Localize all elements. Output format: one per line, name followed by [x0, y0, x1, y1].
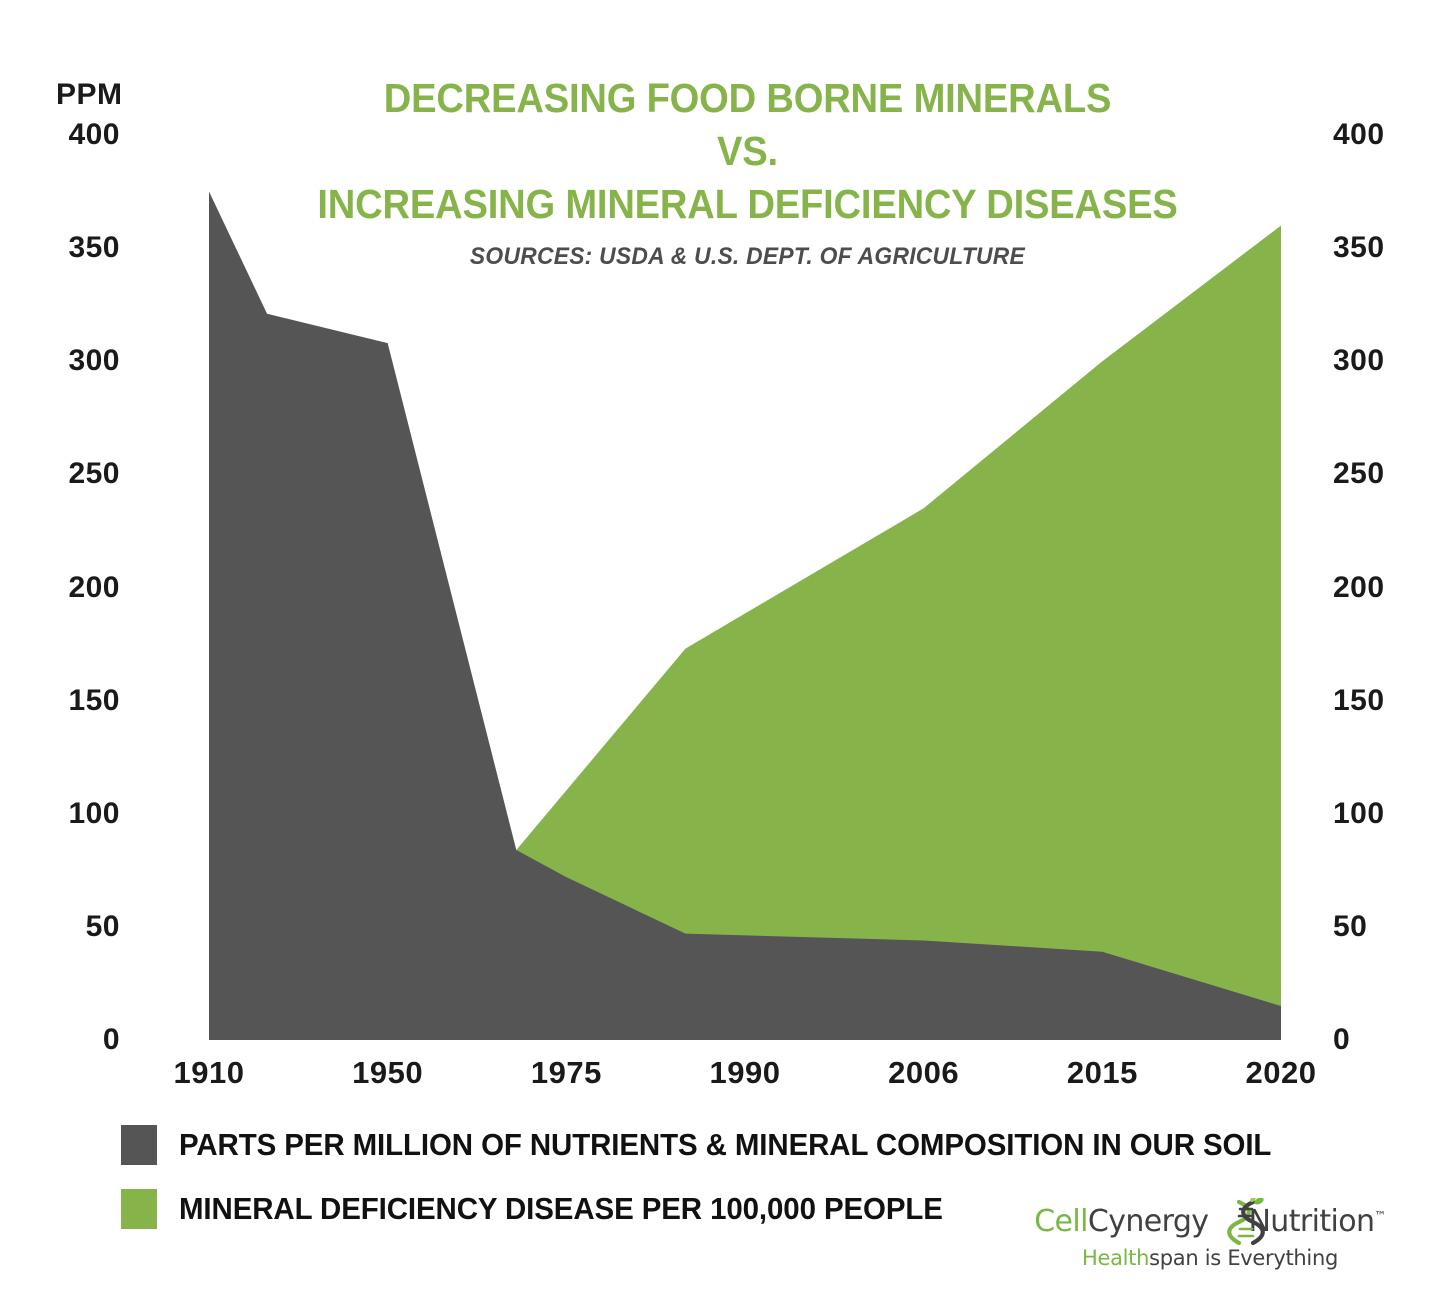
brand-logo-trademark-icon: ™ [1374, 1209, 1385, 1223]
y-axis-tick-right-100: 100 [1333, 799, 1385, 829]
y-axis-tick-left-250: 250 [68, 459, 120, 489]
brand-logo-cynergy: Cynergy [1088, 1204, 1209, 1239]
y-axis-tick-left-400: 400 [68, 120, 120, 150]
brand-logo[interactable]: CellCynergyNutrition™ Healthspan is Ever… [1030, 1198, 1390, 1298]
y-axis-tick-left-0: 0 [103, 1025, 120, 1055]
y-axis-tick-left-300: 300 [68, 346, 120, 376]
y-axis-tick-right-50: 50 [1333, 912, 1367, 942]
y-axis-tick-right-150: 150 [1333, 686, 1385, 716]
x-axis-tick-2015: 2015 [1067, 1055, 1138, 1091]
x-axis-tick-2006: 2006 [888, 1055, 959, 1091]
x-axis-tick-2020: 2020 [1246, 1055, 1317, 1091]
y-axis-tick-right-0: 0 [1333, 1025, 1350, 1055]
y-axis-tick-right-400: 400 [1333, 120, 1385, 150]
x-axis-tick-1910: 1910 [174, 1055, 245, 1091]
legend-label-soil: PARTS PER MILLION OF NUTRIENTS & MINERAL… [179, 1127, 1271, 1163]
legend-item-soil[interactable]: PARTS PER MILLION OF NUTRIENTS & MINERAL… [121, 1120, 1361, 1170]
legend-label-disease: MINERAL DEFICIENCY DISEASE PER 100,000 P… [179, 1191, 943, 1227]
y-axis-tick-left-100: 100 [68, 799, 120, 829]
brand-logo-cell: Cell [1034, 1204, 1088, 1239]
brand-logo-wordmark: CellCynergyNutrition™ [1030, 1204, 1390, 1239]
brand-logo-tagline-accent: Health [1082, 1246, 1149, 1270]
y-axis-tick-left-200: 200 [68, 573, 120, 603]
brand-logo-tagline-rest: span is Everything [1149, 1246, 1338, 1270]
y-axis-tick-left-150: 150 [68, 686, 120, 716]
y-axis-tick-right-250: 250 [1333, 459, 1385, 489]
y-axis-tick-right-200: 200 [1333, 573, 1385, 603]
y-axis-tick-right-300: 300 [1333, 346, 1385, 376]
y-axis-tick-left-50: 50 [86, 912, 120, 942]
x-axis-tick-1950: 1950 [352, 1055, 423, 1091]
chart-canvas: DECREASING FOOD BORNE MINERALS VS. INCRE… [0, 0, 1445, 1308]
legend-swatch-soil [121, 1125, 157, 1165]
legend-swatch-disease [121, 1189, 157, 1229]
y-axis-tick-right-350: 350 [1333, 233, 1385, 263]
plot-area [0, 0, 1445, 1308]
y-axis-tick-left-350: 350 [68, 233, 120, 263]
x-axis-tick-1975: 1975 [531, 1055, 602, 1091]
x-axis-tick-1990: 1990 [710, 1055, 781, 1091]
brand-logo-tagline: Healthspan is Everything [1030, 1246, 1390, 1270]
dna-helix-icon [1226, 1198, 1268, 1246]
